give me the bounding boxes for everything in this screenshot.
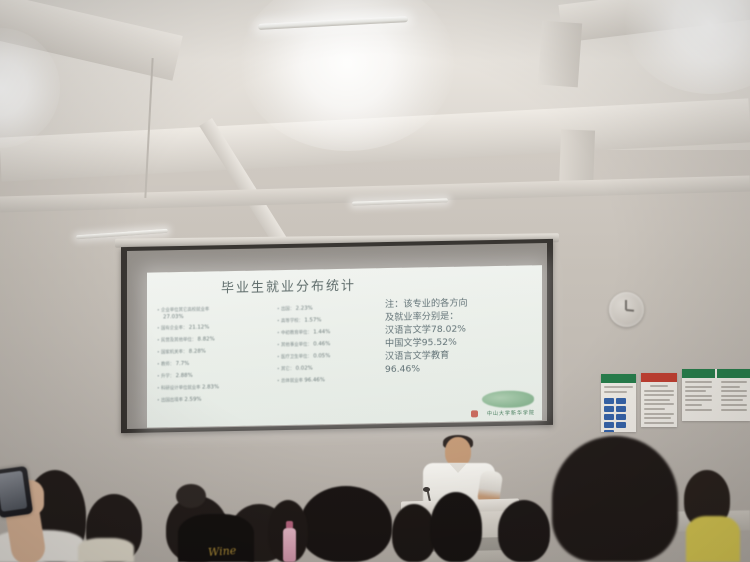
audience-head xyxy=(300,486,392,562)
water-bottle xyxy=(283,528,296,562)
slide-left-column: • 企业单位其它高校就业率 27.03% • 国有企业率： 21.12% • 民… xyxy=(157,306,277,409)
slide-bullet: • 国有企业率： 21.12% xyxy=(157,324,277,333)
poster-body-rows xyxy=(601,383,636,393)
poster-body-rows-b xyxy=(718,378,750,413)
slide-note-line: 96.46% xyxy=(385,361,535,377)
slide-bullet: • 其它： 0.02% xyxy=(277,364,377,373)
smartphone-icon xyxy=(0,466,33,518)
leaf-icon xyxy=(482,390,534,408)
screen-surface: 毕业生就业分布统计 • 企业单位其它高校就业率 27.03% • 国有企业率： … xyxy=(127,243,547,429)
slide-bullet: • 出国出境率 2.59% xyxy=(157,395,277,404)
slide-bullet: • 教师： 7.7% xyxy=(157,359,277,368)
slide-bullet: • 科研设计单位就业率 2.83% xyxy=(157,383,277,392)
audience-head-foreground xyxy=(552,436,678,562)
slide-bullet: • 国家机关率： 8.28% xyxy=(157,347,277,356)
lecture-hall-photo: 毕业生就业分布统计 • 企业单位其它高校就业率 27.03% • 国有企业率： … xyxy=(0,0,750,562)
wall-clock xyxy=(609,292,644,327)
poster-header-green-a xyxy=(682,369,715,378)
slide-bullet: • 高等学校： 1.57% xyxy=(277,316,377,325)
poster-header-green xyxy=(601,374,636,383)
slide-bullet: • 中初教育单位： 1.44% xyxy=(277,328,377,337)
audience-shoulder-cream xyxy=(78,538,134,562)
audience-yellow-top xyxy=(686,516,740,562)
poster-body-rows-a xyxy=(682,378,715,413)
shirt-graphic-text: Wine xyxy=(208,544,237,559)
poster-body-rows xyxy=(641,382,677,424)
slide-bullet: • 总体就业率 96.46% xyxy=(277,376,377,385)
slide-note-column: 注：该专业的各方向 及就业率分别是： 汉语言文学78.02% 中国文学95.52… xyxy=(385,295,535,376)
slide-mid-column: • 出国： 2.23% • 高等学校： 1.57% • 中初教育单位： 1.44… xyxy=(277,304,377,389)
slide-bullet: • 升学： 2.88% xyxy=(157,371,277,380)
presentation-slide: 毕业生就业分布统计 • 企业单位其它高校就业率 27.03% • 国有企业率： … xyxy=(147,265,542,428)
phone-screen xyxy=(0,471,27,512)
poster-green-wide xyxy=(682,369,750,421)
poster-header-green-b xyxy=(717,369,750,378)
screen-frame: 毕业生就业分布统计 • 企业单位其它高校就业率 27.03% • 国有企业率： … xyxy=(121,239,553,433)
audience-head xyxy=(430,492,482,562)
audience-head xyxy=(498,500,550,562)
logo-badge-icon xyxy=(471,410,478,417)
audience-head xyxy=(176,484,206,508)
poster-header-red xyxy=(641,373,677,382)
poster-photo-grid xyxy=(601,395,636,432)
hand-holding-phone xyxy=(0,466,62,562)
slide-bullet: • 企业单位其它高校就业率 27.03% xyxy=(157,306,277,321)
university-logo: 中山大学新华学院 xyxy=(466,390,536,417)
projection-screen: 毕业生就业分布统计 • 企业单位其它高校就业率 27.03% • 国有企业率： … xyxy=(121,236,553,430)
slide-title: 毕业生就业分布统计 xyxy=(221,275,356,297)
poster-green-left xyxy=(601,374,636,432)
slide-bullet: • 出国： 2.23% xyxy=(277,304,377,313)
slide-bullet: • 医疗卫生单位： 0.05% xyxy=(277,352,377,361)
ceiling-beam-soffit-right xyxy=(538,21,582,88)
slide-bullet: • 其他事业单位： 0.46% xyxy=(277,340,377,349)
microphone-icon xyxy=(423,487,430,492)
slide-bullet: • 民营及其他单位： 8.82% xyxy=(157,336,277,345)
logo-text: 中山大学新华学院 xyxy=(487,409,535,417)
poster-red-middle xyxy=(641,373,677,427)
